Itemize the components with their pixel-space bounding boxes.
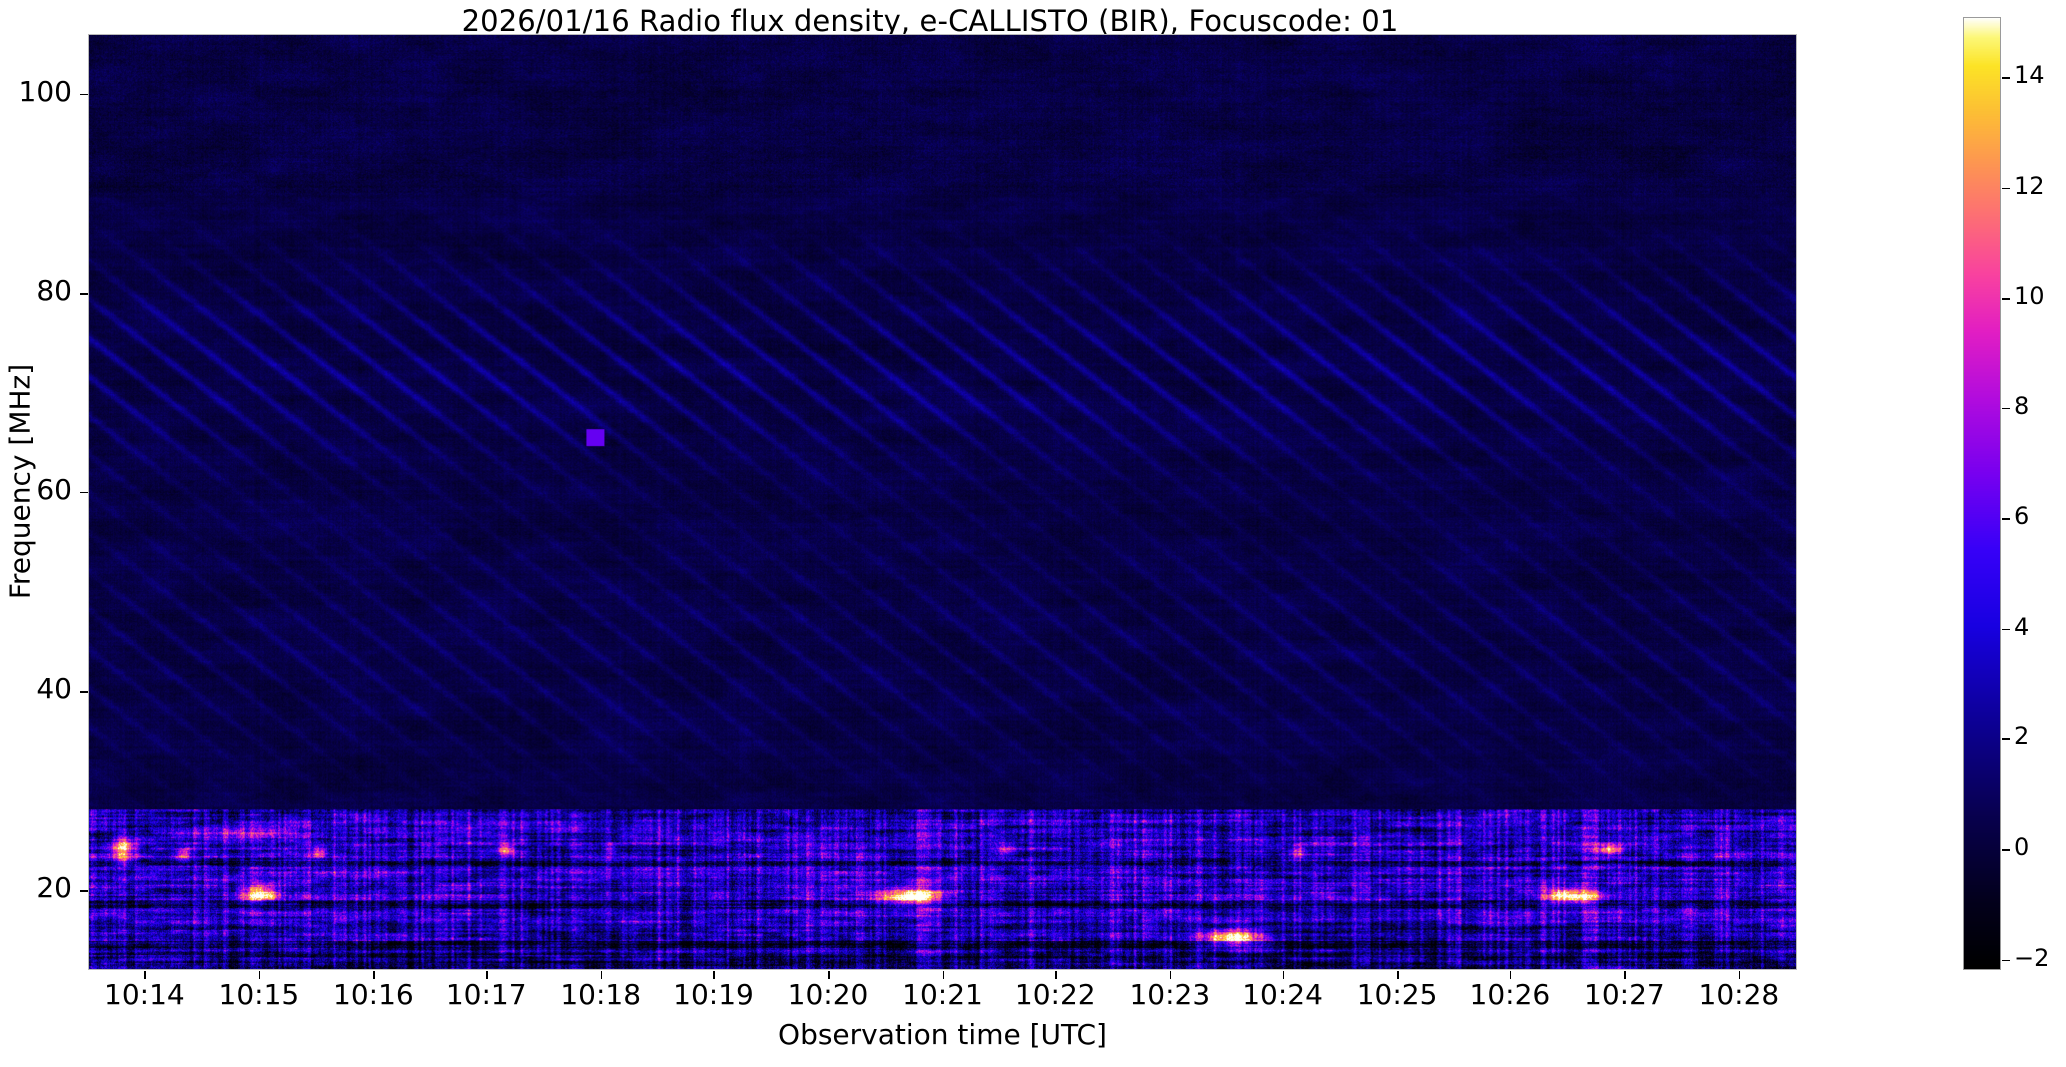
spectrogram-image: [89, 35, 1796, 969]
colorbar-tick-label: 6: [2014, 502, 2066, 530]
colorbar-gradient: [1964, 18, 2000, 969]
y-tick-mark: [80, 492, 88, 494]
colorbar-tick-mark: [2002, 738, 2010, 740]
x-tick-mark: [943, 971, 945, 979]
x-tick-mark: [601, 971, 603, 979]
y-tick-label: 20: [0, 871, 72, 904]
colorbar-tick-label: 14: [2014, 61, 2066, 89]
y-tick-mark: [80, 890, 88, 892]
colorbar-tick-mark: [2002, 77, 2010, 79]
colorbar-tick-mark: [2002, 849, 2010, 851]
colorbar-tick-label: 0: [2014, 833, 2066, 861]
y-tick-label: 80: [0, 274, 72, 307]
colorbar-tick-mark: [2002, 188, 2010, 190]
spectrogram-figure: 2026/01/16 Radio flux density, e-CALLIST…: [0, 0, 2066, 1067]
x-tick-mark: [828, 971, 830, 979]
x-tick-mark: [1170, 971, 1172, 979]
colorbar-tick-mark: [2002, 629, 2010, 631]
y-tick-label: 40: [0, 672, 72, 705]
y-tick-mark: [80, 293, 88, 295]
colorbar-tick-label: 10: [2014, 282, 2066, 310]
x-tick-label: 10:28: [1649, 978, 1829, 1011]
x-tick-mark: [1055, 971, 1057, 979]
colorbar-tick-label: 4: [2014, 613, 2066, 641]
x-tick-mark: [713, 971, 715, 979]
x-tick-mark: [1283, 971, 1285, 979]
colorbar-tick-mark: [2002, 518, 2010, 520]
colorbar-tick-label: 12: [2014, 172, 2066, 200]
x-tick-mark: [1739, 971, 1741, 979]
y-tick-label: 60: [0, 473, 72, 506]
colorbar-tick-mark: [2002, 408, 2010, 410]
x-tick-mark: [373, 971, 375, 979]
colorbar: [1963, 17, 2001, 970]
colorbar-tick-label: 8: [2014, 392, 2066, 420]
colorbar-tick-mark: [2002, 960, 2010, 962]
chart-title: 2026/01/16 Radio flux density, e-CALLIST…: [0, 4, 1860, 38]
x-tick-mark: [486, 971, 488, 979]
x-tick-mark: [1624, 971, 1626, 979]
y-tick-mark: [80, 94, 88, 96]
x-tick-mark: [144, 971, 146, 979]
colorbar-tick-label: −2: [2014, 944, 2066, 972]
colorbar-label: dB above background: [2062, 207, 2066, 807]
colorbar-tick-label: 2: [2014, 722, 2066, 750]
y-tick-mark: [80, 691, 88, 693]
spectrogram-plot-area: [88, 34, 1797, 970]
colorbar-tick-mark: [2002, 298, 2010, 300]
x-tick-mark: [259, 971, 261, 979]
x-axis-label: Observation time [UTC]: [88, 1018, 1797, 1051]
y-tick-label: 100: [0, 75, 72, 108]
x-tick-mark: [1510, 971, 1512, 979]
x-tick-mark: [1397, 971, 1399, 979]
